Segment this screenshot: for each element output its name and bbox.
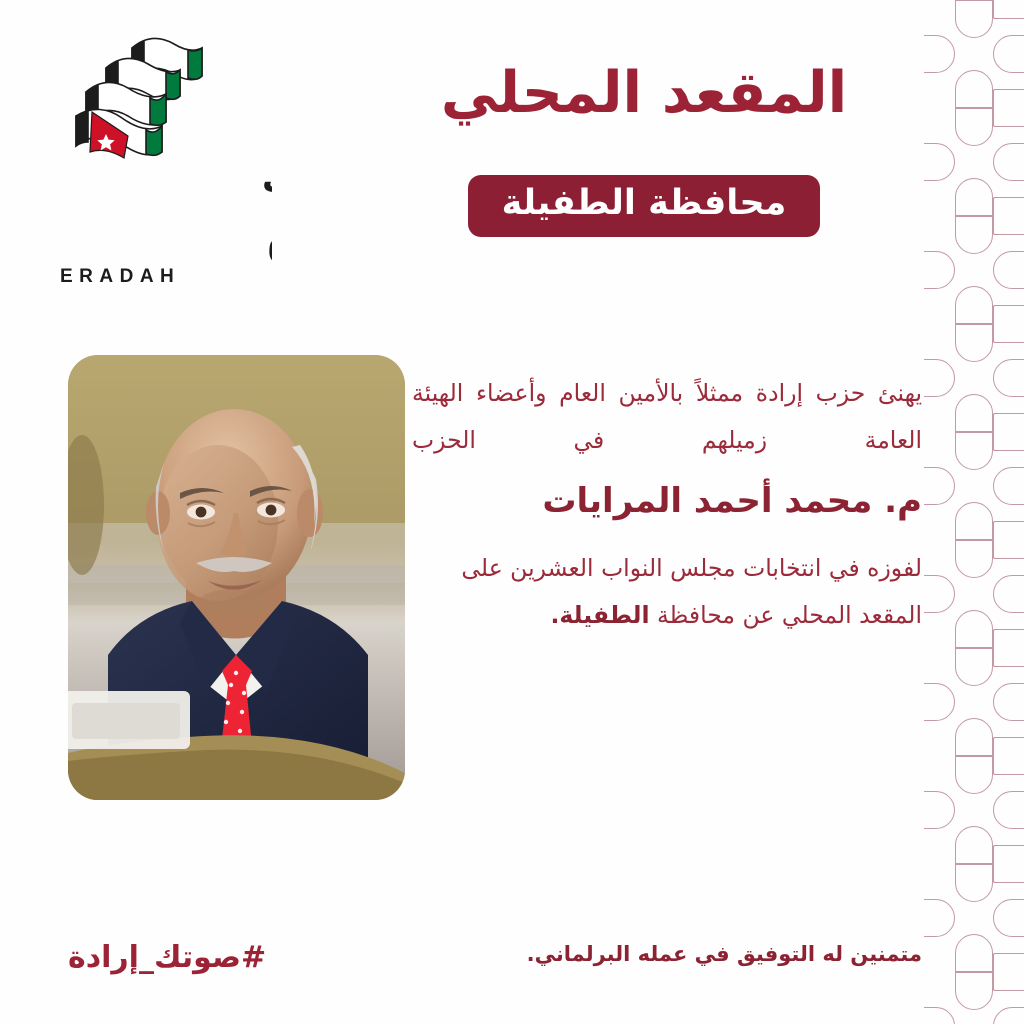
border-tile-arch-left	[924, 575, 955, 613]
congratulation-card: حزب إرادة ERADAH المقعد المحلي محافظة ال…	[0, 0, 1024, 1024]
border-tile-arch-bottom	[955, 718, 993, 756]
governorate-badge: محافظة الطفيلة	[468, 175, 821, 237]
border-tile-arch-right	[993, 35, 1024, 73]
message-block: يهنئ حزب إرادة ممثلاً بالأمين العام وأعض…	[412, 370, 922, 639]
border-tile-arch-top	[955, 972, 993, 1010]
svg-text:إرادة: إرادة	[266, 197, 272, 280]
border-tile-arch-left	[924, 35, 955, 73]
border-tile-sq-a	[993, 413, 1024, 451]
reason-line-3-prefix: محافظة	[650, 601, 736, 629]
border-tile-arch-right	[993, 251, 1024, 289]
border-tile-sq-a	[993, 197, 1024, 235]
border-tile-sq-a	[993, 0, 1024, 19]
border-tile-arch-bottom	[955, 826, 993, 864]
closing-wish: متمنين له التوفيق في عمله البرلماني.	[402, 940, 922, 969]
border-tile-arch-top	[955, 540, 993, 578]
border-tile-arch-top	[955, 216, 993, 254]
border-tile-arch-left	[924, 1007, 955, 1024]
page-title: المقعد المحلي	[364, 62, 924, 126]
border-tile-arch-right	[993, 359, 1024, 397]
border-tile-arch-left	[924, 143, 955, 181]
border-tile-sq-a	[993, 953, 1024, 991]
border-tile-arch-bottom	[955, 178, 993, 216]
campaign-hashtag: #صوتك_إرادة	[68, 940, 266, 975]
border-tile-arch-left	[924, 359, 955, 397]
border-tile-arch-right	[993, 899, 1024, 937]
border-tile-arch-top	[955, 756, 993, 794]
eradah-arabic-wordmark: حزب إرادة	[52, 150, 272, 285]
reason-paragraph: لفوزه في انتخابات مجلس النواب العشرين عل…	[412, 545, 922, 639]
border-tile-arch-bottom	[955, 286, 993, 324]
eradah-latin-wordmark: ERADAH	[60, 266, 180, 288]
candidate-photo	[68, 355, 405, 800]
border-tile-arch-right	[993, 575, 1024, 613]
border-tile-arch-top	[955, 324, 993, 362]
border-tile-arch-bottom	[955, 502, 993, 540]
border-tile-arch-right	[993, 143, 1024, 181]
border-tile-arch-left	[924, 683, 955, 721]
border-tile-sq-a	[993, 737, 1024, 775]
border-tile-sq-a	[993, 629, 1024, 667]
svg-text:حزب: حزب	[262, 161, 272, 201]
border-tile-arch-top	[955, 648, 993, 686]
border-tile-arch-left	[924, 251, 955, 289]
decorative-border-strip	[924, 0, 1024, 1024]
border-tile-arch-top	[955, 0, 993, 38]
candidate-portrait-image	[68, 355, 405, 800]
eradah-logo: حزب إرادة ERADAH	[52, 30, 272, 285]
border-motif	[924, 972, 1024, 1024]
border-tile-arch-right	[993, 467, 1024, 505]
border-tile-arch-right	[993, 683, 1024, 721]
border-tile-arch-left	[924, 467, 955, 505]
border-tile-sq-a	[993, 305, 1024, 343]
border-tile-arch-bottom	[955, 610, 993, 648]
reason-line-1: لفوزه في انتخابات مجلس النواب	[601, 554, 922, 582]
border-tile-arch-left	[924, 791, 955, 829]
congratulation-paragraph: يهنئ حزب إرادة ممثلاً بالأمين العام وأعض…	[412, 370, 922, 464]
border-tile-sq-a	[993, 521, 1024, 559]
border-tile-arch-bottom	[955, 394, 993, 432]
governorate-badge-wrapper: محافظة الطفيلة	[364, 175, 924, 237]
border-tile-sq-a	[993, 89, 1024, 127]
border-tile-arch-bottom	[955, 934, 993, 972]
border-tile-sq-a	[993, 845, 1024, 883]
border-tile-arch-right	[993, 791, 1024, 829]
border-tile-arch-right	[993, 1007, 1024, 1024]
reason-line-3-bold: الطفيلة.	[550, 601, 649, 629]
border-tile-arch-left	[924, 899, 955, 937]
border-tile-arch-top	[955, 864, 993, 902]
border-tile-arch-top	[955, 108, 993, 146]
border-tile-arch-bottom	[955, 70, 993, 108]
honoree-name: م. محمد أحمد المرايات	[412, 480, 922, 523]
border-tile-arch-top	[955, 432, 993, 470]
